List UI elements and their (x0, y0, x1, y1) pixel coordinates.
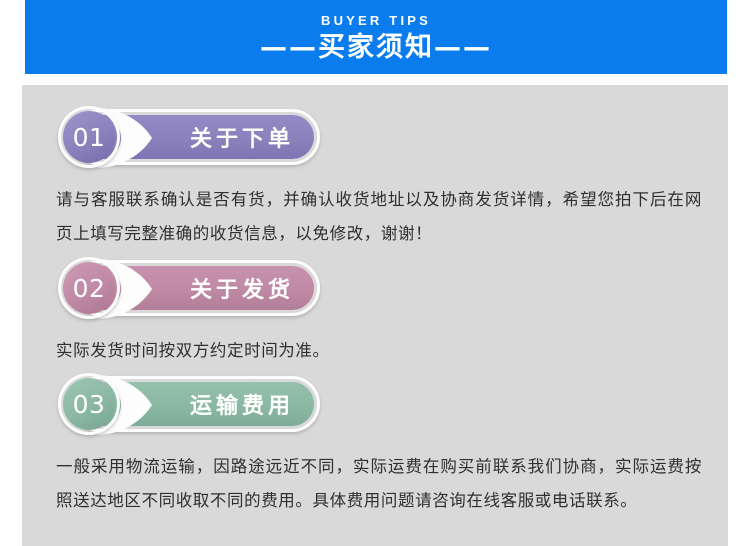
badge-title-label: 运输费用 (166, 382, 314, 426)
badge-number-circle: 03 (63, 378, 115, 430)
section-badge-01[interactable]: 01 关于下单 (58, 105, 320, 169)
badge-number-circle: 01 (63, 111, 115, 163)
badge-title-label: 关于发货 (166, 266, 314, 310)
page-title: ——买家须知—— (260, 34, 492, 61)
section-paragraph-03: 一般采用物流运输，因路途远近不同，实际运费在购买前联系我们协商，实际运费按照送达… (56, 450, 702, 518)
badge-number-circle: 02 (63, 262, 115, 314)
badge-number-label: 01 (73, 125, 106, 150)
buyer-tips-page: BUYER TIPS ——买家须知—— 01 关于下单 (0, 0, 752, 546)
section-badge-03[interactable]: 03 运输费用 (58, 372, 320, 436)
section-03: 03 运输费用 一般采用物流运输，因路途远近不同，实际运费在购买前联系我们协商，… (22, 372, 728, 535)
section-badge-02[interactable]: 02 关于发货 (58, 256, 320, 320)
header-banner: BUYER TIPS ——买家须知—— (25, 0, 727, 74)
badge-title-label: 关于下单 (166, 115, 314, 159)
section-01: 01 关于下单 请与客服联系确认是否有货，并确认收货地址以及协商发货详情，希望您… (22, 105, 728, 268)
section-paragraph-02: 实际发货时间按双方约定时间为准。 (56, 334, 702, 368)
section-02: 02 关于发货 实际发货时间按双方约定时间为准。 (22, 256, 728, 385)
content-panel: 01 关于下单 请与客服联系确认是否有货，并确认收货地址以及协商发货详情，希望您… (22, 85, 728, 546)
section-paragraph-01: 请与客服联系确认是否有货，并确认收货地址以及协商发货详情，希望您拍下后在网页上填… (56, 183, 702, 251)
header-eyebrow-text: BUYER TIPS (321, 14, 431, 27)
header-title-row: ——买家须知—— (260, 34, 492, 61)
badge-number-label: 02 (73, 276, 106, 301)
badge-number-label: 03 (73, 392, 106, 417)
